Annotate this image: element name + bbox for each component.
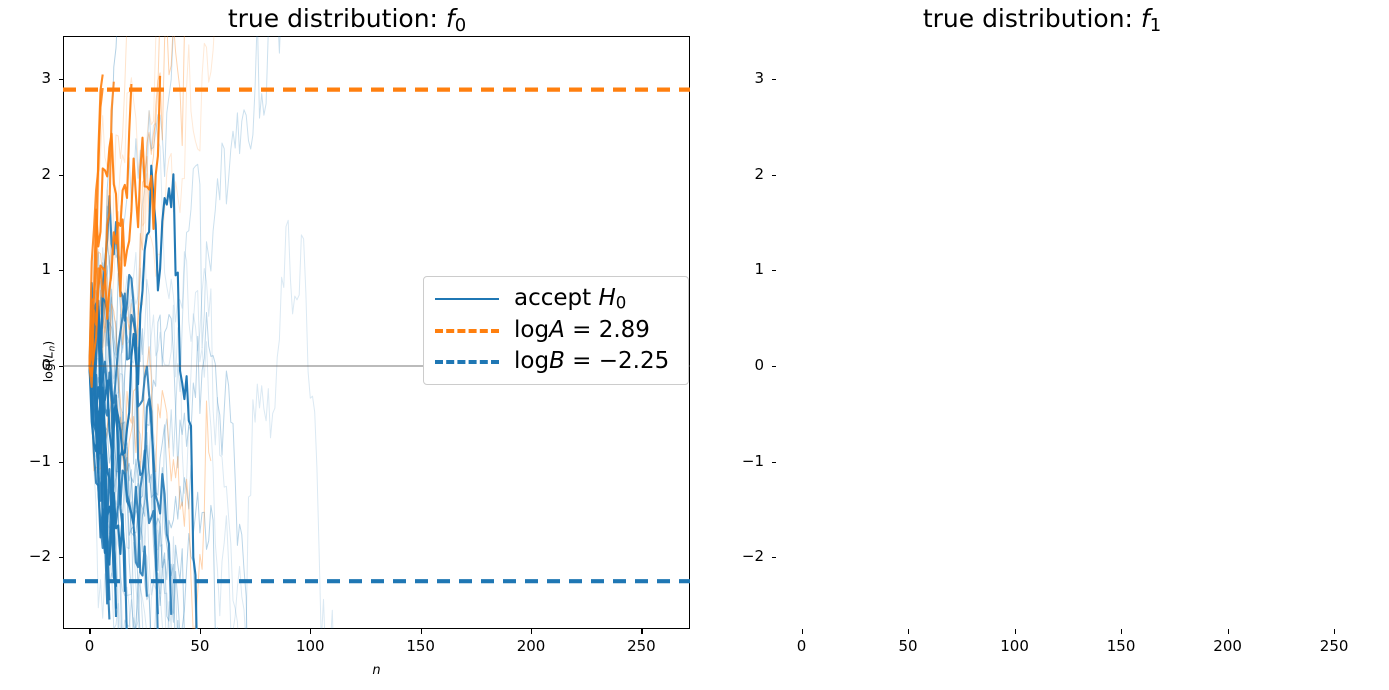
- x-tick-label: 100: [985, 637, 1045, 655]
- y-tick-label: −1: [11, 452, 51, 470]
- y-tick-label: 1: [724, 260, 764, 278]
- y-tick-label: −2: [724, 547, 764, 565]
- legend-logb-head: log: [514, 348, 549, 374]
- x-tick-mark: [1015, 629, 1016, 634]
- x-tick-mark: [421, 629, 422, 634]
- x-tick-mark: [310, 629, 311, 634]
- panel-true-f0: true distribution: f0 log(Ln) n accept H…: [0, 0, 694, 690]
- panel-title-left-symbol: f: [446, 4, 455, 33]
- y-tick-mark: [772, 366, 777, 367]
- y-tick-mark: [772, 462, 777, 463]
- x-tick-mark: [908, 629, 909, 634]
- legend-accept-prefix: accept: [514, 285, 598, 311]
- y-tick-mark: [772, 79, 777, 80]
- figure-canvas: true distribution: f0 log(Ln) n accept H…: [0, 0, 1389, 690]
- legend-logb-value: = −2.25: [565, 348, 669, 374]
- x-tick-mark: [802, 629, 803, 634]
- legend-loga-head: log: [514, 317, 549, 343]
- y-tick-mark: [772, 270, 777, 271]
- y-tick-label: 2: [724, 165, 764, 183]
- legend-accept-symbol: H: [598, 285, 615, 311]
- panel-title-left-text: true distribution:: [228, 4, 446, 33]
- x-tick-label: 200: [501, 637, 561, 655]
- x-tick-mark: [641, 629, 642, 634]
- y-tick-mark: [59, 175, 64, 176]
- x-tick-label: 200: [1198, 637, 1258, 655]
- legend-label-log-b: logB = −2.25: [514, 350, 669, 373]
- x-tick-mark: [1334, 629, 1335, 634]
- x-tick-mark: [1228, 629, 1229, 634]
- y-tick-mark: [59, 79, 64, 80]
- y-tick-label: −1: [724, 452, 764, 470]
- legend-loga-value: = 2.89: [565, 317, 650, 343]
- panel-title-left-subscript: 0: [455, 15, 466, 36]
- x-axis-label-left: n: [63, 663, 690, 678]
- x-tick-mark: [531, 629, 532, 634]
- legend-label-log-a: logA = 2.89: [514, 319, 650, 342]
- x-tick-mark: [200, 629, 201, 634]
- panel-true-f1: true distribution: f1 log(Ln) n reject H…: [695, 0, 1389, 690]
- legend-accept-sub: 0: [616, 294, 627, 313]
- x-tick-mark: [89, 629, 90, 634]
- ylabel-sub-left: n: [47, 345, 57, 351]
- panel-title-right-text: true distribution:: [923, 4, 1141, 33]
- legend-item-accept-h0[interactable]: accept H0: [435, 284, 677, 315]
- legend-loga-var: A: [549, 317, 565, 343]
- legend-item-log-b[interactable]: logB = −2.25: [435, 346, 677, 377]
- y-tick-label: 0: [11, 356, 51, 374]
- y-tick-mark: [59, 270, 64, 271]
- panel-title-right-symbol: f: [1141, 4, 1150, 33]
- y-tick-label: 2: [11, 165, 51, 183]
- y-tick-mark: [772, 175, 777, 176]
- y-tick-label: 0: [724, 356, 764, 374]
- y-tick-label: −2: [11, 547, 51, 565]
- x-tick-label: 100: [280, 637, 340, 655]
- x-tick-label: 0: [772, 637, 832, 655]
- panel-title-right-subscript: 1: [1150, 15, 1161, 36]
- legend-item-log-a[interactable]: logA = 2.89: [435, 315, 677, 346]
- x-tick-label: 150: [391, 637, 451, 655]
- x-tick-label: 0: [59, 637, 119, 655]
- legend-label-accept-h0: accept H0: [514, 287, 626, 312]
- ylabel-tail-left: ): [41, 340, 56, 345]
- x-tick-label: 50: [170, 637, 230, 655]
- y-tick-mark: [59, 557, 64, 558]
- y-tick-mark: [59, 462, 64, 463]
- panel-title-right: true distribution: f1: [695, 4, 1389, 41]
- y-tick-mark: [772, 557, 777, 558]
- legend-left[interactable]: accept H0 logA = 2.89 logB = −2.25: [423, 276, 689, 385]
- y-tick-label: 3: [11, 69, 51, 87]
- x-tick-label: 250: [611, 637, 671, 655]
- x-tick-label: 150: [1091, 637, 1151, 655]
- y-tick-mark: [59, 366, 64, 367]
- x-tick-label: 50: [878, 637, 938, 655]
- legend-logb-var: B: [549, 348, 565, 374]
- x-tick-label: 250: [1304, 637, 1364, 655]
- x-tick-mark: [1121, 629, 1122, 634]
- y-tick-label: 3: [724, 69, 764, 87]
- y-tick-label: 1: [11, 260, 51, 278]
